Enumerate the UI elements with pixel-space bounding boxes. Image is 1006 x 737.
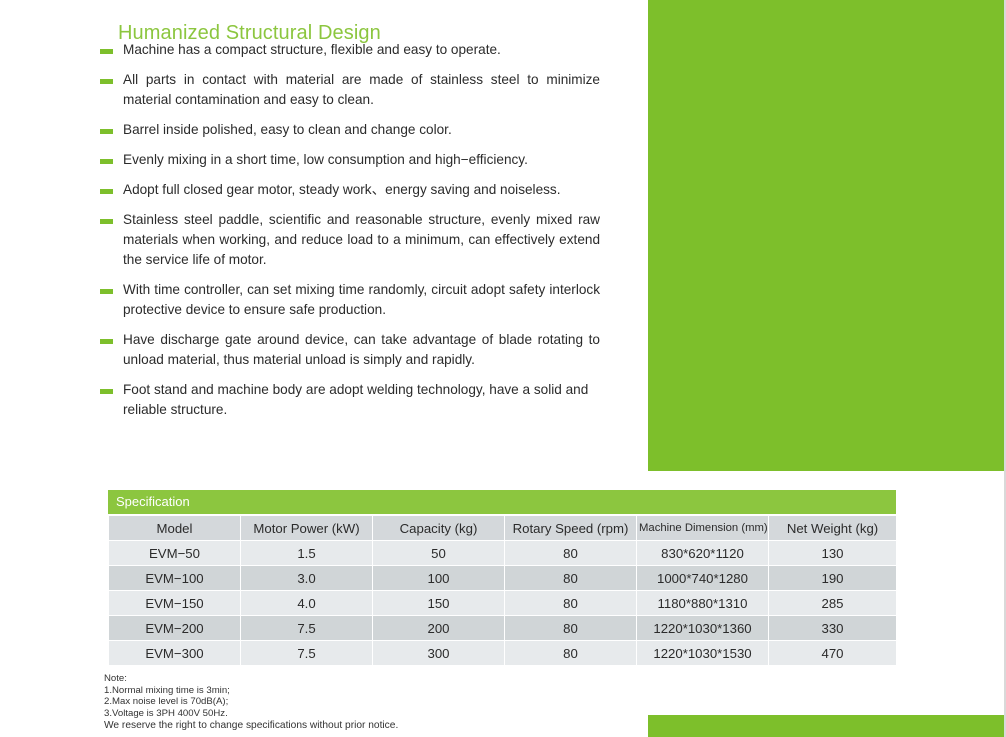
table-row: EVM−300 7.5 300 80 1220*1030*1530 470: [109, 641, 896, 665]
cell-model: EVM−300: [109, 641, 240, 665]
table-header-row: Model Motor Power (kW) Capacity (kg) Rot…: [109, 516, 896, 540]
list-item: Machine has a compact structure, flexibl…: [100, 40, 600, 60]
cell-capacity: 100: [373, 566, 504, 590]
column-header-motor-power: Motor Power (kW): [241, 516, 372, 540]
cell-capacity: 50: [373, 541, 504, 565]
feature-text: Stainless steel paddle, scientific and r…: [123, 210, 600, 270]
cell-machine-dimension: 830*620*1120: [637, 541, 768, 565]
bullet-dash-icon: [100, 49, 113, 54]
cell-net-weight: 130: [769, 541, 896, 565]
cell-net-weight: 330: [769, 616, 896, 640]
list-item: Adopt full closed gear motor, steady wor…: [100, 180, 600, 200]
cell-capacity: 150: [373, 591, 504, 615]
list-item: Evenly mixing in a short time, low consu…: [100, 150, 600, 170]
cell-net-weight: 285: [769, 591, 896, 615]
bullet-dash-icon: [100, 289, 113, 294]
feature-text: Adopt full closed gear motor, steady wor…: [123, 180, 600, 200]
column-header-capacity: Capacity (kg): [373, 516, 504, 540]
list-item: All parts in contact with material are m…: [100, 70, 600, 110]
cell-rotary-speed: 80: [505, 641, 636, 665]
table-row: EVM−200 7.5 200 80 1220*1030*1360 330: [109, 616, 896, 640]
list-item: With time controller, can set mixing tim…: [100, 280, 600, 320]
cell-motor-power: 1.5: [241, 541, 372, 565]
cell-capacity: 200: [373, 616, 504, 640]
feature-text: Evenly mixing in a short time, low consu…: [123, 150, 600, 170]
list-item: Have discharge gate around device, can t…: [100, 330, 600, 370]
product-spec-page: Humanized Structural Design Machine has …: [0, 0, 1006, 737]
cell-rotary-speed: 80: [505, 591, 636, 615]
cell-machine-dimension: 1000*740*1280: [637, 566, 768, 590]
column-header-net-weight: Net Weight (kg): [769, 516, 896, 540]
cell-motor-power: 7.5: [241, 616, 372, 640]
cell-model: EVM−200: [109, 616, 240, 640]
table-row: EVM−50 1.5 50 80 830*620*1120 130: [109, 541, 896, 565]
cell-rotary-speed: 80: [505, 616, 636, 640]
specification-table: Model Motor Power (kW) Capacity (kg) Rot…: [108, 515, 897, 666]
notes-disclaimer: We reserve the right to change specifica…: [104, 720, 398, 732]
bullet-dash-icon: [100, 189, 113, 194]
bullet-dash-icon: [100, 389, 113, 394]
feature-text: Have discharge gate around device, can t…: [123, 330, 600, 370]
bullet-dash-icon: [100, 339, 113, 344]
cell-capacity: 300: [373, 641, 504, 665]
cell-motor-power: 7.5: [241, 641, 372, 665]
table-row: EVM−100 3.0 100 80 1000*740*1280 190: [109, 566, 896, 590]
cell-net-weight: 470: [769, 641, 896, 665]
bullet-dash-icon: [100, 159, 113, 164]
feature-text: Barrel inside polished, easy to clean an…: [123, 120, 600, 140]
cell-motor-power: 4.0: [241, 591, 372, 615]
feature-text: With time controller, can set mixing tim…: [123, 280, 600, 320]
list-item: Foot stand and machine body are adopt we…: [100, 380, 600, 420]
specification-caption: Specification: [108, 490, 896, 514]
notes-heading: Note:: [104, 673, 398, 685]
column-header-model: Model: [109, 516, 240, 540]
cell-machine-dimension: 1220*1030*1360: [637, 616, 768, 640]
cell-model: EVM−150: [109, 591, 240, 615]
cell-net-weight: 190: [769, 566, 896, 590]
note-item: 1.Normal mixing time is 3min;: [104, 685, 398, 697]
bullet-dash-icon: [100, 219, 113, 224]
feature-text: Machine has a compact structure, flexibl…: [123, 40, 600, 60]
note-item: 2.Max noise level is 70dB(A);: [104, 696, 398, 708]
column-header-rotary-speed: Rotary Speed (rpm): [505, 516, 636, 540]
cell-machine-dimension: 1180*880*1310: [637, 591, 768, 615]
list-item: Stainless steel paddle, scientific and r…: [100, 210, 600, 270]
cell-model: EVM−50: [109, 541, 240, 565]
column-header-machine-dimension: Machine Dimension (mm): [637, 516, 768, 540]
cell-rotary-speed: 80: [505, 566, 636, 590]
cell-model: EVM−100: [109, 566, 240, 590]
table-row: EVM−150 4.0 150 80 1180*880*1310 285: [109, 591, 896, 615]
specification-table-section: Specification Model Motor Power (kW) Cap…: [108, 490, 896, 666]
bullet-dash-icon: [100, 129, 113, 134]
cell-rotary-speed: 80: [505, 541, 636, 565]
bullet-dash-icon: [100, 79, 113, 84]
feature-text: Foot stand and machine body are adopt we…: [123, 380, 600, 420]
cell-motor-power: 3.0: [241, 566, 372, 590]
list-item: Barrel inside polished, easy to clean an…: [100, 120, 600, 140]
feature-text: All parts in contact with material are m…: [123, 70, 600, 110]
footer-green-bar: [648, 715, 1004, 737]
note-item: 3.Voltage is 3PH 400V 50Hz.: [104, 708, 398, 720]
cell-machine-dimension: 1220*1030*1530: [637, 641, 768, 665]
product-image-placeholder-green-panel: [648, 0, 1004, 471]
feature-bullet-list: Machine has a compact structure, flexibl…: [100, 40, 600, 430]
notes-block: Note: 1.Normal mixing time is 3min; 2.Ma…: [104, 673, 398, 732]
